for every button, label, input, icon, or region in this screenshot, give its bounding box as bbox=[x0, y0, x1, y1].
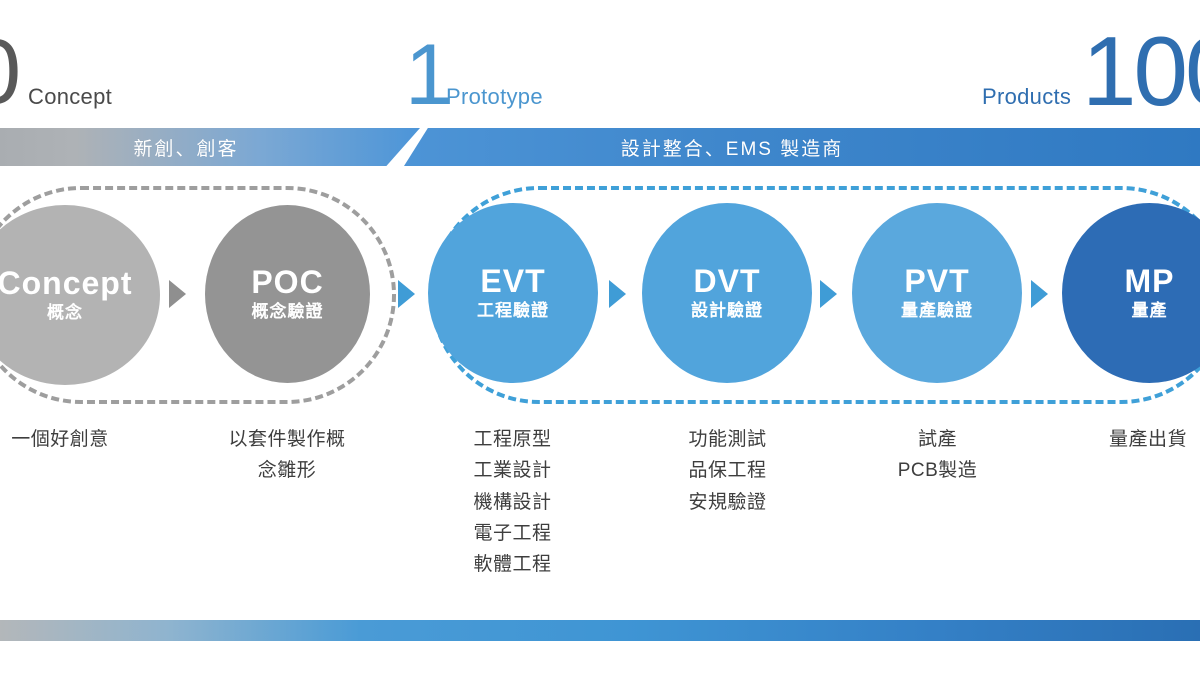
stage-circle-poc[interactable]: POC 概念驗證 bbox=[205, 205, 370, 383]
stage-cn-evt: 工程驗證 bbox=[477, 302, 549, 321]
stage-cn-dvt: 設計驗證 bbox=[691, 302, 763, 321]
banner-right-label: 設計整合、EMS 製造商 bbox=[621, 134, 843, 161]
caption-pvt: 試產PCB製造 bbox=[850, 424, 1025, 487]
caption-concept: 一個好創意 bbox=[0, 424, 155, 455]
stage-circle-evt[interactable]: EVT 工程驗證 bbox=[428, 203, 598, 383]
caption-poc: 以套件製作概念雛形 bbox=[198, 424, 376, 487]
stage-numeral-0: 0 bbox=[0, 26, 19, 118]
stage-abbr-concept: Concept bbox=[0, 267, 133, 301]
stage-abbr-dvt: DVT bbox=[694, 265, 761, 299]
arrow-right-icon-poc-to-evt bbox=[398, 280, 415, 308]
caption-mp: 量產出貨 bbox=[1058, 424, 1200, 455]
arrow-right-icon-pvt-to-mp bbox=[1031, 280, 1048, 308]
stage-abbr-mp: MP bbox=[1125, 265, 1175, 299]
arrow-right-icon-dvt-to-pvt bbox=[820, 280, 837, 308]
banner-design-ems: 設計整合、EMS 製造商 bbox=[404, 128, 1200, 166]
stage-circle-pvt[interactable]: PVT 量產驗證 bbox=[852, 203, 1022, 383]
stage-numeral-100: 100 bbox=[1082, 22, 1200, 120]
stage-abbr-poc: POC bbox=[251, 266, 323, 300]
stage-label-concept: Concept bbox=[28, 84, 112, 110]
stage-label-products: Products bbox=[982, 84, 1071, 110]
banner-left-label: 新創、創客 bbox=[133, 134, 238, 161]
banner-startup-maker: 新創、創客 bbox=[0, 128, 420, 166]
stage-cn-mp: 量產 bbox=[1132, 302, 1168, 321]
footer-gradient-bar bbox=[0, 620, 1200, 641]
stage-abbr-pvt: PVT bbox=[904, 265, 969, 299]
slide-canvas: 0 Concept 1 Prototype Products 100 新創、創客… bbox=[0, 0, 1200, 675]
caption-dvt: 功能測試品保工程安規驗證 bbox=[640, 424, 815, 518]
stage-cn-concept: 概念 bbox=[47, 304, 83, 323]
stage-numeral-1: 1 bbox=[405, 32, 452, 118]
arrow-right-icon-evt-to-dvt bbox=[609, 280, 626, 308]
stage-cn-poc: 概念驗證 bbox=[252, 303, 324, 322]
caption-evt: 工程原型工業設計機構設計電子工程軟體工程 bbox=[425, 424, 600, 581]
stage-circle-dvt[interactable]: DVT 設計驗證 bbox=[642, 203, 812, 383]
arrow-right-icon-concept-to-poc bbox=[169, 280, 186, 308]
stage-label-prototype: Prototype bbox=[446, 84, 543, 110]
stage-cn-pvt: 量產驗證 bbox=[901, 302, 973, 321]
stage-abbr-evt: EVT bbox=[480, 265, 545, 299]
